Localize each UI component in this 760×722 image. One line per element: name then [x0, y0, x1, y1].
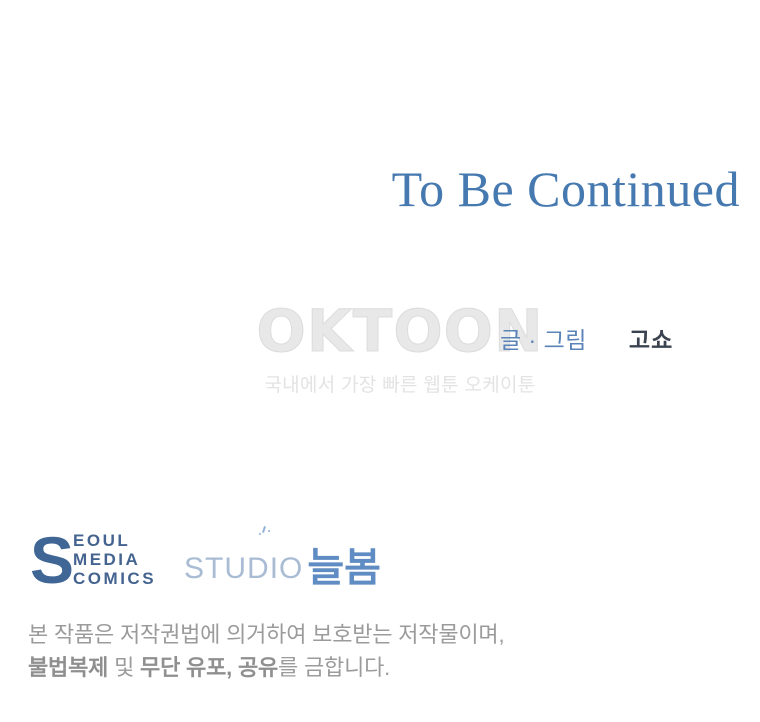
- credit-role-label: 글 · 그림: [500, 325, 587, 355]
- copyright-line-1-text: 본 작품은 저작권법에 의거하여 보호받는 저작물이며,: [28, 622, 504, 647]
- copyright-bold-illegal-copy: 불법복제: [28, 655, 108, 680]
- seoul-media-line-1: EOUL: [73, 531, 156, 550]
- copyright-notice: 본 작품은 저작권법에 의거하여 보호받는 저작물이며, 불법복제 및 무단 유…: [28, 618, 728, 684]
- studio-english-text: STUDIO: [184, 552, 303, 586]
- webtoon-end-card: To Be Continued OKTOON 국내에서 가장 빠른 웹툰 오케이…: [0, 0, 760, 722]
- credit-author-name: 고쇼: [629, 325, 673, 355]
- studio-neulbom-logo: STUDIO 늘봄: [184, 528, 381, 590]
- seoul-media-comics-logo: S EOUL MEDIA COMICS: [30, 528, 156, 590]
- copyright-bold-distribution: 무단 유포, 공유: [140, 655, 278, 680]
- copyright-plain-and: 및: [108, 655, 140, 680]
- to-be-continued-text: To Be Continued: [0, 160, 740, 218]
- sparkle-icon: [258, 526, 272, 540]
- copyright-plain-prohibited: 를 금합니다.: [278, 655, 390, 680]
- seoul-media-line-2: MEDIA: [73, 550, 156, 569]
- seoul-media-wordmark: EOUL MEDIA COMICS: [73, 530, 156, 588]
- copyright-line-2: 불법복제 및 무단 유포, 공유를 금합니다.: [28, 651, 728, 684]
- oktoon-tagline: 국내에서 가장 빠른 웹툰 오케이툰: [250, 374, 550, 398]
- copyright-line-1: 본 작품은 저작권법에 의거하여 보호받는 저작물이며,: [28, 618, 728, 651]
- studio-korean-text: 늘봄: [307, 546, 381, 590]
- seoul-media-line-3: COMICS: [73, 569, 156, 588]
- publisher-logos: S EOUL MEDIA COMICS STUDIO 늘봄: [30, 528, 381, 590]
- seoul-media-s-initial: S: [30, 529, 72, 591]
- credits-line: 글 · 그림 고쇼: [500, 320, 740, 360]
